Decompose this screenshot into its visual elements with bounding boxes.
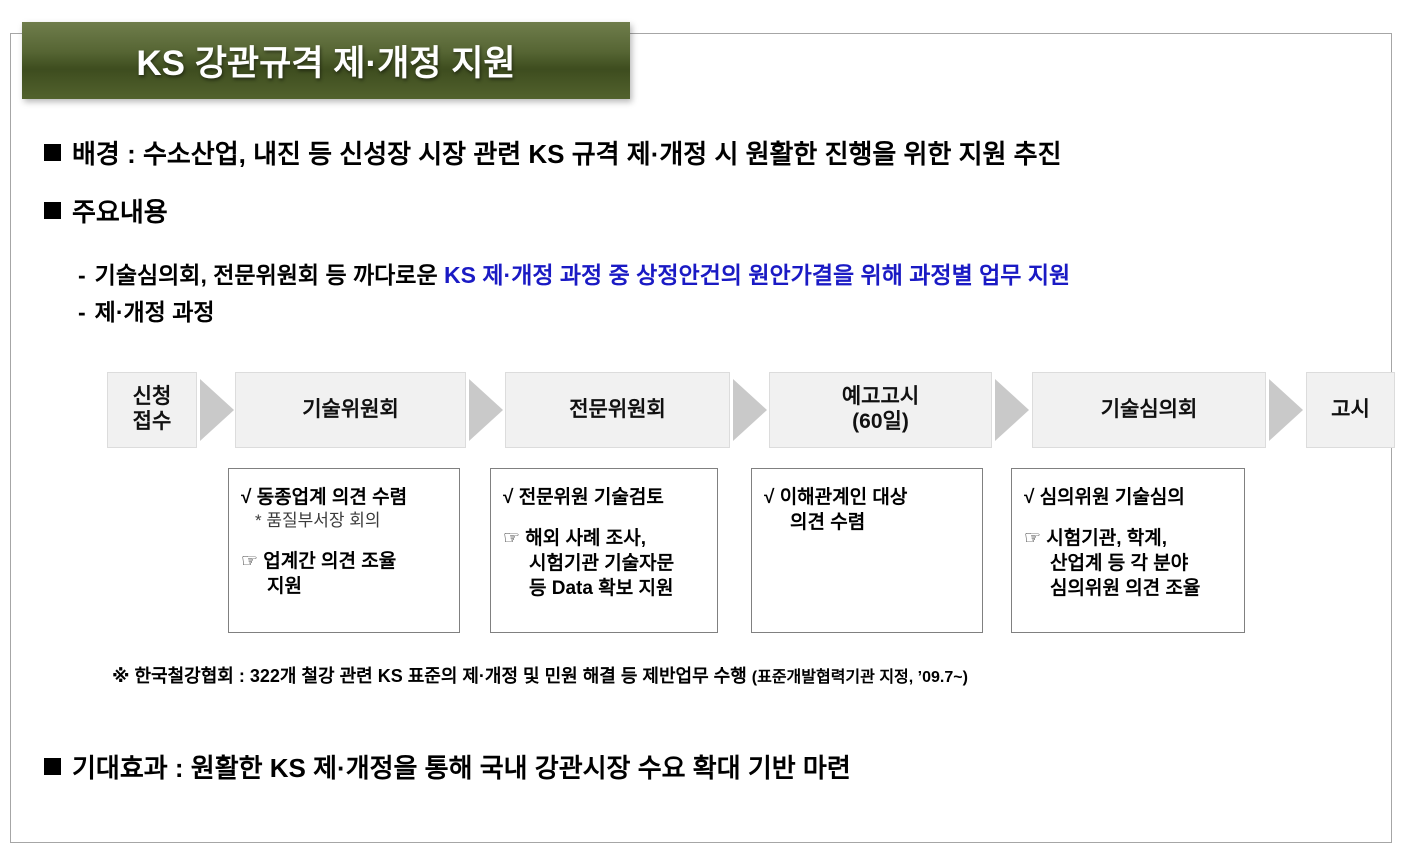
detail-hand-item-line2: 시험기관 기술자문 [503,551,707,576]
flow-step-application-line2: 접수 [133,410,172,433]
dash-bullet-icon: - [78,262,86,288]
footnote-tail: (표준개발협력기관 지정, ’09.7~) [752,669,968,686]
detail-note-item: * 품질부서장 회의 [241,510,449,532]
detail-hand-item-line3: 심의위원 의견 조율 [1024,576,1234,601]
detail-box-technical-committee: √ 동종업계 의견 수렴 * 품질부서장 회의 ☞ 업계간 의견 조율 지원 [228,468,460,633]
flow-arrow-icon [995,379,1029,441]
square-bullet-icon [44,202,61,219]
detail-check-item-line1: √ 이해관계인 대상 [764,485,972,510]
flow-step-notification[interactable]: 고시 [1306,372,1395,448]
flow-step-notification-label: 고시 [1331,398,1370,423]
flow-step-application-line1: 신청 [133,385,172,408]
background-label: 배경 : 수소산업, 내진 등 신성장 시장 관련 KS 규격 제·개정 시 원… [72,134,1062,171]
detail-box-expert-committee: √ 전문위원 기술검토 ☞ 해외 사례 조사, 시험기관 기술자문 등 Data… [490,468,718,633]
detail-box-preannouncement: √ 이해관계인 대상 의견 수렴 [751,468,983,633]
flow-step-preannouncement-label: 예고고시 (60일) [842,385,919,435]
flow-step-preannouncement-line1: 예고고시 [842,385,919,408]
flow-step-technical-committee-label: 기술위원회 [302,398,399,423]
main-content-heading: 주요내용 [72,192,168,229]
flow-step-application[interactable]: 신청 접수 [107,372,197,448]
flow-step-application-label: 신청 접수 [133,385,172,435]
sub-line-2-text: 제·개정 과정 [95,299,215,325]
detail-check-item: √ 심의위원 기술심의 [1024,485,1234,510]
main-sub-line-2: -제·개정 과정 [78,293,215,327]
sub-line-1-blue: KS 제·개정 과정 중 상정안건의 원안가결을 위해 과정별 업무 지원 [444,262,1070,288]
flow-step-deliberation-committee-label: 기술심의회 [1101,398,1198,423]
flow-arrow-icon [469,379,503,441]
footnote: ※ 한국철강협회 : 322개 철강 관련 KS 표준의 제·개정 및 민원 해… [112,662,968,688]
square-bullet-icon [44,144,61,161]
detail-hand-item-line3: 등 Data 확보 지원 [503,576,707,601]
detail-check-item: √ 동종업계 의견 수렴 [241,485,449,510]
spacer [503,510,707,526]
dash-bullet-icon: - [78,299,86,325]
detail-hand-item-line1: ☞ 업계간 의견 조율 [241,549,449,574]
flow-arrow-icon [200,379,234,441]
process-flow: 신청 접수 기술위원회 전문위원회 예고고시 (60일) 기술심의회 고시 [107,372,1365,448]
flow-step-preannouncement[interactable]: 예고고시 (60일) [769,372,992,448]
detail-hand-item-line2: 지원 [241,574,449,599]
detail-hand-item-line1: ☞ 시험기관, 학계, [1024,526,1234,551]
flow-step-expert-committee[interactable]: 전문위원회 [505,372,730,448]
main-sub-line-1: -기술심의회, 전문위원회 등 까다로운 KS 제·개정 과정 중 상정안건의 … [78,256,1070,290]
background-bullet: 배경 : 수소산업, 내진 등 신성장 시장 관련 KS 규격 제·개정 시 원… [44,134,1062,171]
flow-step-preannouncement-line2: (60일) [852,410,909,433]
flow-step-expert-committee-label: 전문위원회 [569,398,666,423]
spacer [241,533,449,549]
flow-step-deliberation-committee[interactable]: 기술심의회 [1032,372,1266,448]
detail-hand-item-line1: ☞ 해외 사례 조사, [503,526,707,551]
slide-title-banner: KS 강관규격 제·개정 지원 [22,22,630,99]
expected-effect-label: 기대효과 : 원활한 KS 제·개정을 통해 국내 강관시장 수요 확대 기반 … [72,748,851,785]
detail-hand-item-line2: 산업계 등 각 분야 [1024,551,1234,576]
flow-arrow-icon [733,379,767,441]
main-content-bullet: 주요내용 [44,192,168,229]
flow-arrow-icon [1269,379,1303,441]
detail-check-item: √ 전문위원 기술검토 [503,485,707,510]
expected-effect-bullet: 기대효과 : 원활한 KS 제·개정을 통해 국내 강관시장 수요 확대 기반 … [44,748,851,785]
footnote-main: ※ 한국철강협회 : 322개 철강 관련 KS 표준의 제·개정 및 민원 해… [112,666,752,686]
flow-step-technical-committee[interactable]: 기술위원회 [235,372,466,448]
spacer [1024,510,1234,526]
detail-box-deliberation-committee: √ 심의위원 기술심의 ☞ 시험기관, 학계, 산업계 등 각 분야 심의위원 … [1011,468,1245,633]
page-title: KS 강관규격 제·개정 지원 [136,35,515,86]
detail-check-item-line2: 의견 수렴 [764,510,972,535]
sub-line-1-black: 기술심의회, 전문위원회 등 까다로운 [95,262,444,288]
square-bullet-icon [44,758,61,775]
